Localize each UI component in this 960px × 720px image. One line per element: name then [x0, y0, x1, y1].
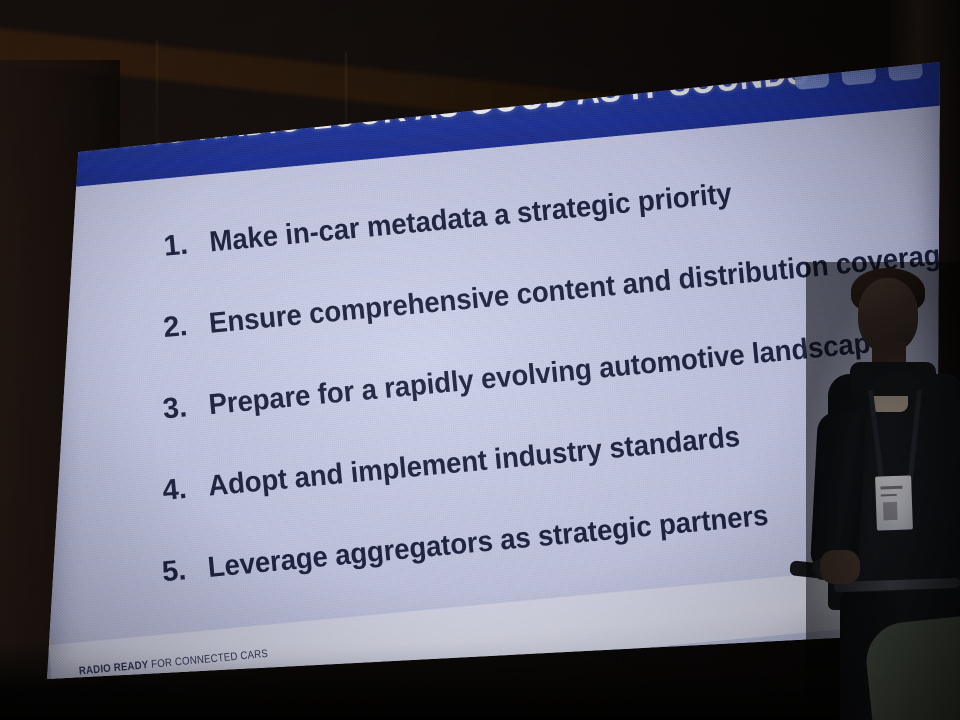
presentation-screen: MAKING RADIO LOOK AS GOOD AS IT SOUNDS 1… [47, 62, 940, 679]
slide-body: 1. Make in-car metadata a strategic prio… [47, 105, 940, 679]
list-item-text: Make in-car metadata a strategic priorit… [208, 178, 733, 260]
list-item-number: 5. [161, 552, 210, 589]
slide-footer-text: RADIO READY FOR CONNECTED CARS [78, 648, 268, 678]
numbered-list: 1. Make in-car metadata a strategic prio… [118, 160, 940, 638]
list-item-number: 4. [161, 471, 210, 508]
footer-brand: RADIO READY [78, 659, 149, 677]
decoration-square-3 [886, 62, 923, 81]
list-item-number: 2. [162, 308, 211, 345]
list-item-number: 1. [162, 227, 211, 264]
header-decoration-squares [793, 62, 924, 90]
footer-tagline: FOR CONNECTED CARS [148, 648, 269, 671]
presentation-screen-wrapper: MAKING RADIO LOOK AS GOOD AS IT SOUNDS 1… [0, 0, 960, 720]
decoration-square-2 [840, 62, 877, 86]
slide: MAKING RADIO LOOK AS GOOD AS IT SOUNDS 1… [47, 62, 940, 679]
conference-room-photo: MAKING RADIO LOOK AS GOOD AS IT SOUNDS 1… [0, 0, 960, 720]
decoration-square-1 [793, 62, 830, 90]
list-item-number: 3. [161, 389, 210, 426]
